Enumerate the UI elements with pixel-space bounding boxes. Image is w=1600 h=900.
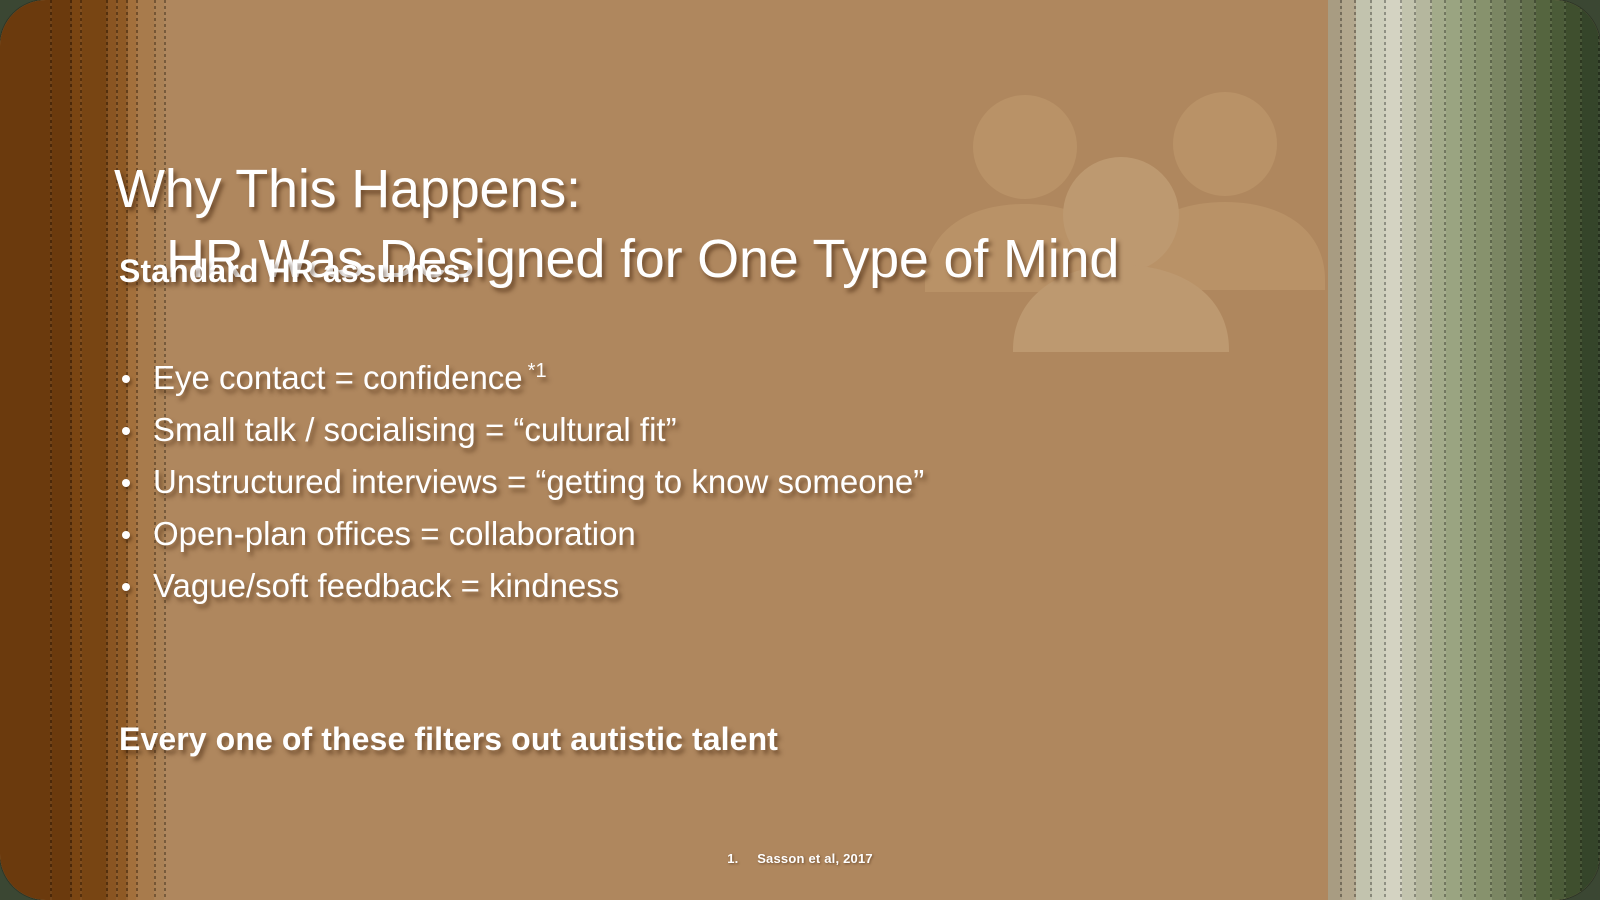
list-item: Unstructured interviews = “getting to kn… xyxy=(119,456,1219,508)
page-title: Why This Happens: HR Was Designed for On… xyxy=(114,84,1294,364)
footnote-text: Sasson et al, 2017 xyxy=(757,851,873,866)
list-item-label: Unstructured interviews = “getting to kn… xyxy=(153,463,924,500)
assumptions-bullet-list: Eye contact = confidence*1Small talk / s… xyxy=(119,352,1219,612)
list-item: Open-plan offices = collaboration xyxy=(119,508,1219,560)
title-line-1: Why This Happens: xyxy=(114,159,581,219)
footnote: 1.Sasson et al, 2017 xyxy=(0,851,1600,866)
bullet-dot-icon xyxy=(122,375,130,383)
bullet-dot-icon xyxy=(122,583,130,591)
list-item-label: Vague/soft feedback = kindness xyxy=(153,567,619,604)
section-heading: Standard HR assumes: xyxy=(119,253,471,290)
footnote-number: 1. xyxy=(727,851,749,866)
list-item: Eye contact = confidence*1 xyxy=(119,352,1219,404)
slide-root: Why This Happens: HR Was Designed for On… xyxy=(0,0,1600,900)
slide-content: Why This Happens: HR Was Designed for On… xyxy=(0,0,1600,900)
list-item-label: Small talk / socialising = “cultural fit… xyxy=(153,411,677,448)
list-item: Small talk / socialising = “cultural fit… xyxy=(119,404,1219,456)
closing-statement: Every one of these filters out autistic … xyxy=(119,721,778,758)
list-item: Vague/soft feedback = kindness xyxy=(119,560,1219,612)
footnote-reference: *1 xyxy=(528,360,547,382)
list-item-label: Open-plan offices = collaboration xyxy=(153,515,636,552)
bullet-dot-icon xyxy=(122,479,130,487)
bullet-dot-icon xyxy=(122,531,130,539)
bullet-dot-icon xyxy=(122,427,130,435)
list-item-label: Eye contact = confidence xyxy=(153,359,523,396)
slide-card: Why This Happens: HR Was Designed for On… xyxy=(0,0,1600,900)
